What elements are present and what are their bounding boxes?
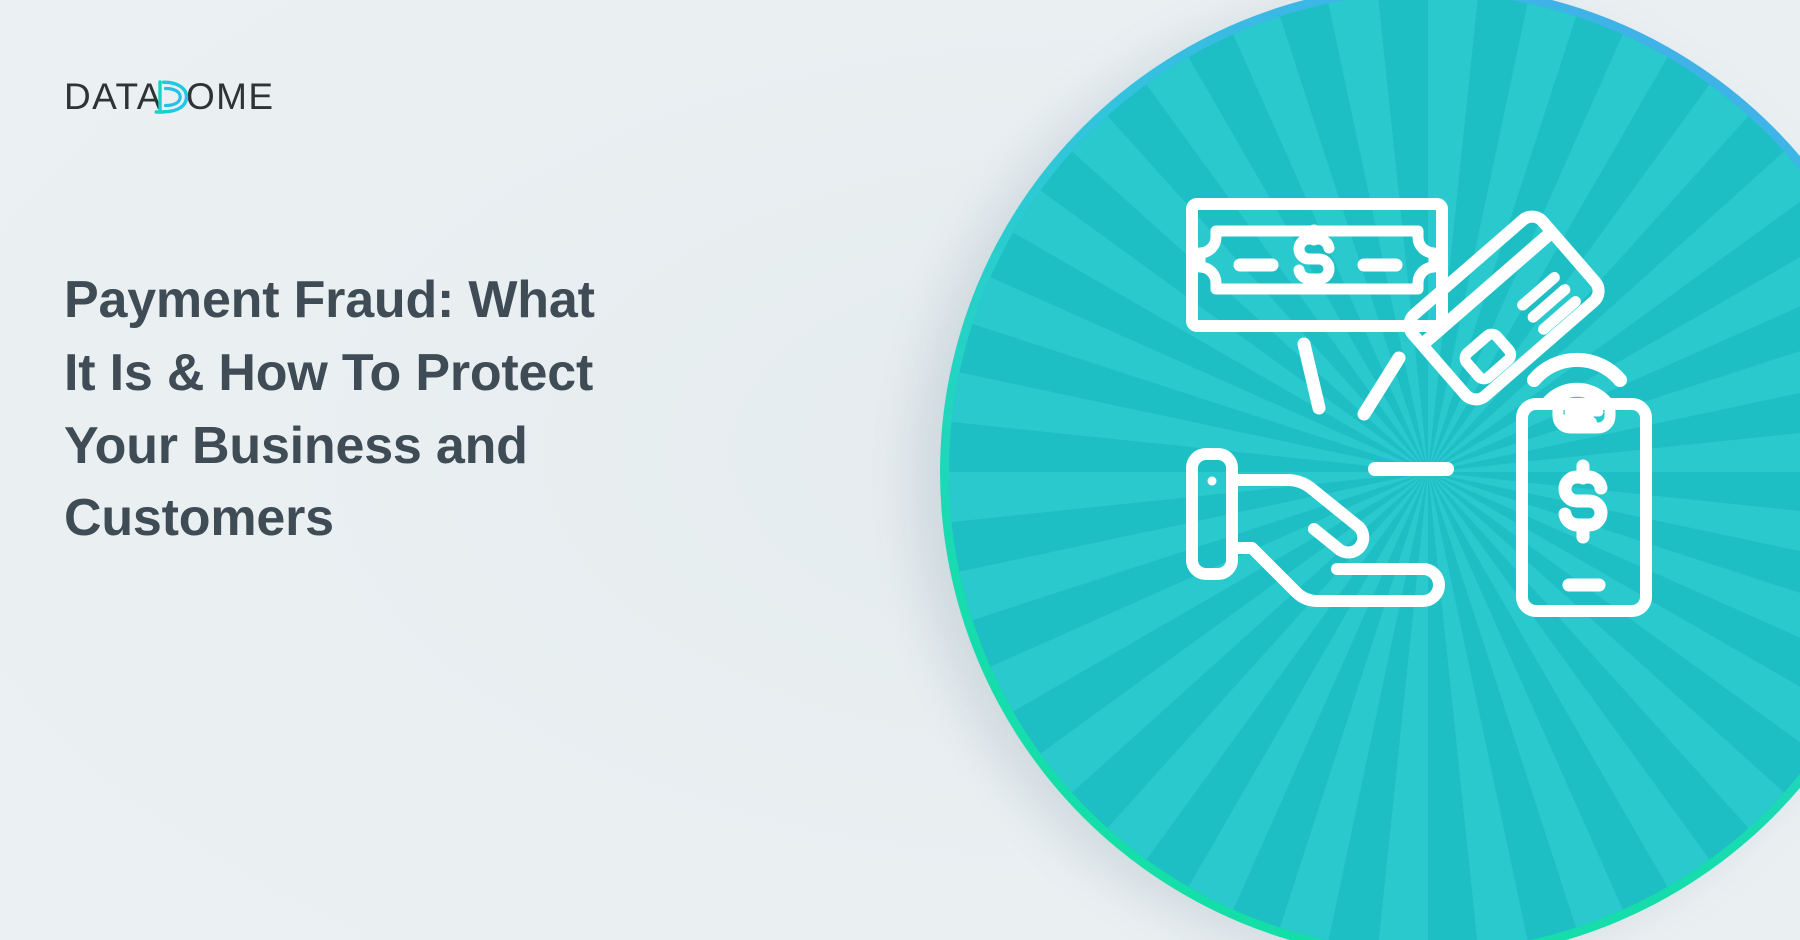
sleeve-button-icon [1208, 477, 1217, 486]
phone-dollar-sign-glyph [1565, 466, 1601, 537]
smartphone-icon [1522, 404, 1646, 611]
title-line: It Is & How To Protect [64, 337, 764, 410]
banknote-icon [1192, 204, 1442, 326]
hero-banner: DATA OME Payment Fraud: What It Is & How… [0, 0, 1800, 940]
logo-accent-d-icon [156, 82, 186, 112]
payment-fraud-illustration [1186, 196, 1656, 616]
datadome-logo[interactable]: DATA OME [64, 78, 290, 122]
title-line: Your Business and [64, 410, 764, 483]
open-hand-icon [1192, 454, 1439, 601]
logo-text-ome: OME [186, 78, 274, 117]
credit-card-icon [1404, 211, 1605, 405]
title-line: Customers [64, 482, 764, 555]
sleeve-cuff-icon [1192, 454, 1232, 574]
logo-text-data: DATA [64, 78, 163, 117]
datadome-wordmark-logo: DATA OME [64, 78, 290, 122]
dollar-sign-glyph [1299, 230, 1329, 289]
page-title: Payment Fraud: What It Is & How To Prote… [64, 264, 764, 555]
spark-lines-icon [1304, 344, 1399, 414]
title-line: Payment Fraud: What [64, 264, 764, 337]
